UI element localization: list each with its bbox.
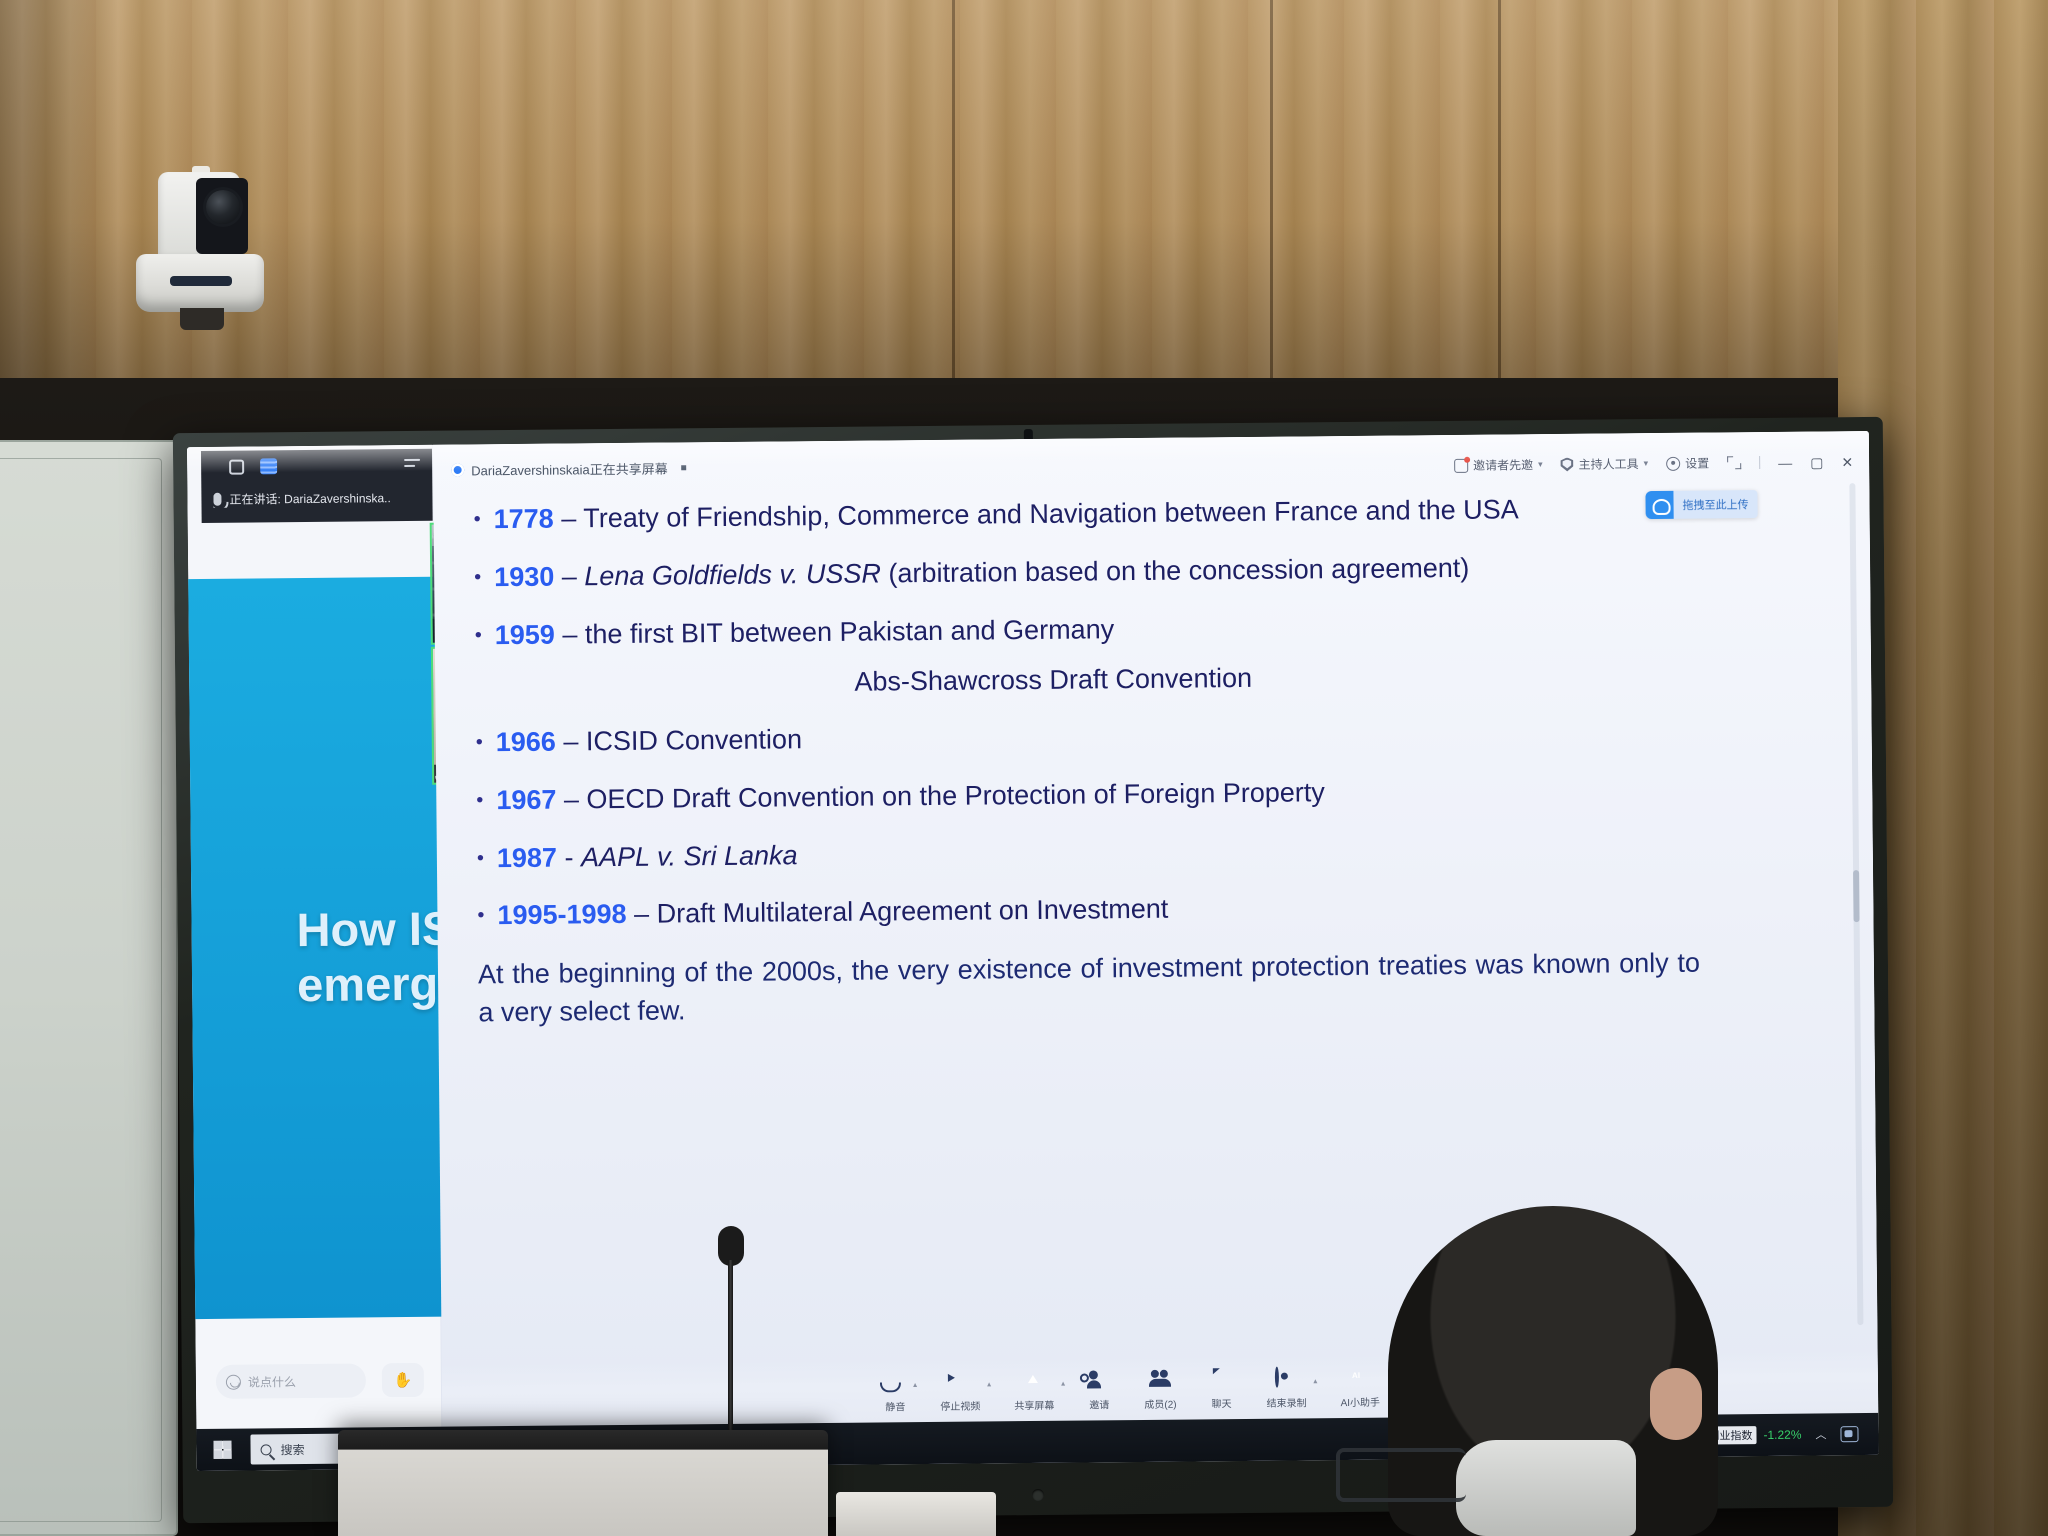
display-power-led-icon [1032,1489,1044,1501]
slide-bullet: • 1959 – the first BIT between Pakistan … [475,606,1711,654]
chat-input[interactable]: 说点什么 [216,1363,366,1398]
speaking-indicator: 正在讲话: DariaZavershinska.. [213,489,424,508]
slide-bullet: • 1778 – Treaty of Friendship, Commerce … [473,490,1709,538]
bullet-case-name: AAPL v. Sri Lanka [581,840,798,872]
bullet-year: 1930 [494,561,554,592]
reaction-icon[interactable]: ✋ [382,1363,424,1397]
invite-tool[interactable]: 邀请者先邀 ▾ [1454,456,1543,474]
share-banner-text: DariaZavershinskaia正在共享屏幕 [471,458,668,479]
record-icon [1275,1366,1279,1387]
bullet-year: 1995-1998 [497,899,626,930]
speaking-label: 正在讲话: DariaZavershinska.. [229,489,391,508]
toolbar-chat[interactable]: 聊天 [1210,1369,1232,1410]
bullet-year: 1987 [497,842,557,873]
toolbar-stop-video[interactable]: 停止视频 ▴ [940,1371,980,1412]
search-icon [261,1444,272,1455]
bullet-year: 1959 [495,619,555,650]
emoji-icon[interactable] [226,1374,241,1389]
bullet-text: ICSID Convention [586,724,802,756]
left-wall-panel [0,440,178,1536]
meeting-sidebar: How ISDS emerged? 正在讲话: DariaZavershinsk… [187,445,442,1471]
toolbar-invite[interactable]: 邀请 [1088,1370,1110,1411]
toolbar-record[interactable]: 结束录制 ▴ [1266,1368,1306,1409]
ptz-camera-icon [136,172,264,328]
slide-bullet: • 1987 - AAPL v. Sri Lanka [477,829,1713,877]
menu-icon[interactable] [404,459,420,471]
maximize-button[interactable]: ▢ [1810,455,1823,469]
bullet-icon: • [475,618,482,646]
close-button[interactable]: ✕ [1841,455,1853,469]
toolbar-share-screen[interactable]: 共享屏幕 ▴ [1014,1370,1054,1411]
chat-placeholder: 说点什么 [248,1373,296,1390]
bullet-icon: • [477,899,484,927]
tray-expand-icon[interactable]: ︿ [1815,1426,1826,1442]
share-status-icon [451,463,464,476]
slide-bullet: • 1995-1998 – Draft Multilateral Agreeme… [477,887,1713,935]
tray-app-icon[interactable] [1840,1426,1858,1442]
toolbar-participants[interactable]: 成员(2) [1144,1369,1177,1410]
bullet-icon: • [477,841,484,869]
minimize-button[interactable]: — [1778,455,1792,469]
bullet-icon: • [476,783,483,811]
bullet-year: 1967 [496,784,556,815]
chevron-up-icon[interactable]: ▴ [913,1380,917,1389]
search-placeholder: 搜索 [280,1441,304,1458]
desk-microphone-icon [718,1226,744,1452]
slide-bullet: • 1967 – OECD Draft Convention on the Pr… [476,771,1712,819]
meeting-sidebar-header: 正在讲话: DariaZavershinska.. [201,449,433,523]
chevron-up-icon[interactable]: ▴ [987,1379,991,1388]
toolbar-mute[interactable]: 静音 ▴ [884,1372,906,1413]
attendee-foreground [1328,1206,1758,1536]
chevron-up-icon[interactable]: ▴ [1313,1376,1317,1385]
bullet-text: the first BIT between Pakistan and Germa… [585,614,1115,649]
wood-wall-top [0,0,2048,400]
bullet-text: (arbitration based on the concession agr… [881,553,1470,589]
bullet-icon: • [474,560,481,588]
slide-paragraph: At the beginning of the 2000s, the very … [478,945,1715,1031]
stop-share-icon[interactable]: ⏹ [681,460,687,475]
bullet-case-name: Lena Goldfields v. USSR [584,558,881,591]
scrollbar-thumb[interactable] [1853,870,1859,922]
invite-icon [1454,458,1468,472]
divider [1759,456,1760,469]
bullet-icon: • [476,725,483,753]
conference-room: How ISDS emerged? 正在讲话: DariaZavershinsk… [0,0,2048,1536]
bullet-year: 1778 [494,504,554,535]
shield-icon [1561,457,1574,471]
desk-device [836,1492,996,1536]
bullet-text: Draft Multilateral Agreement on Investme… [656,894,1168,929]
chevron-up-icon[interactable]: ▴ [1061,1378,1065,1387]
slide-centered-line: Abs-Shawcross Draft Convention [475,658,1711,701]
fullscreen-icon[interactable] [1727,456,1741,469]
layout-icon[interactable] [260,458,277,474]
chevron-down-icon: ▾ [1644,458,1649,469]
microphone-icon [213,493,221,506]
slide-content: • 1778 – Treaty of Friendship, Commerce … [473,490,1714,1031]
chevron-down-icon: ▾ [1538,459,1543,470]
glasses-icon [1336,1448,1466,1502]
settings-tool[interactable]: 设置 [1666,454,1709,471]
gear-icon [1666,456,1680,470]
windows-start-icon[interactable] [210,1438,234,1462]
scrollbar[interactable] [1849,483,1863,1325]
bullet-text: OECD Draft Convention on the Protection … [586,777,1325,814]
restore-icon[interactable] [229,459,244,474]
slide-bullet: • 1966 – ICSID Convention [476,713,1712,761]
laptop [338,1430,828,1536]
bullet-text: Treaty of Friendship, Commerce and Navig… [583,494,1519,533]
bullet-year: 1966 [496,726,556,757]
slide-bullet: • 1930 – Lena Goldfields v. USSR (arbitr… [474,548,1710,596]
bullet-icon: • [473,502,480,530]
host-tools[interactable]: 主持人工具 ▾ [1561,455,1649,473]
